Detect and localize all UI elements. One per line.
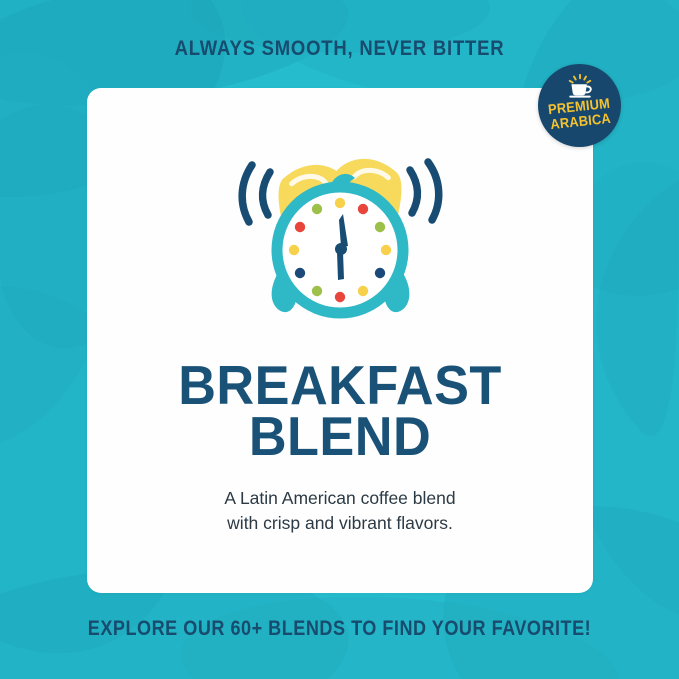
title-line-2: BLEND — [100, 411, 581, 462]
cup-rays-icon — [569, 75, 590, 83]
clock-center-pin — [335, 243, 347, 255]
coffee-cup-icon — [565, 74, 595, 98]
product-card: BREAKFAST BLEND A Latin American coffee … — [87, 88, 593, 593]
top-tagline: ALWAYS SMOOTH, NEVER BITTER — [41, 37, 639, 61]
badge-label: PREMIUM ARABICA — [547, 96, 612, 131]
description-line-1: A Latin American coffee blend — [87, 486, 593, 511]
alarm-clock-illustration-wrap — [87, 128, 593, 328]
bottom-tagline: EXPLORE OUR 60+ BLENDS TO FIND YOUR FAVO… — [48, 617, 632, 641]
product-card-canvas: ALWAYS SMOOTH, NEVER BITTER — [0, 0, 679, 679]
soundwave-left-icon — [242, 165, 270, 222]
premium-arabica-badge: PREMIUM ARABICA — [538, 64, 621, 147]
soundwave-right-icon — [410, 162, 439, 220]
alarm-clock-icon — [225, 128, 455, 328]
product-description: A Latin American coffee blend with crisp… — [87, 486, 593, 536]
description-line-2: with crisp and vibrant flavors. — [87, 511, 593, 536]
page-title: BREAKFAST BLEND — [100, 360, 581, 462]
